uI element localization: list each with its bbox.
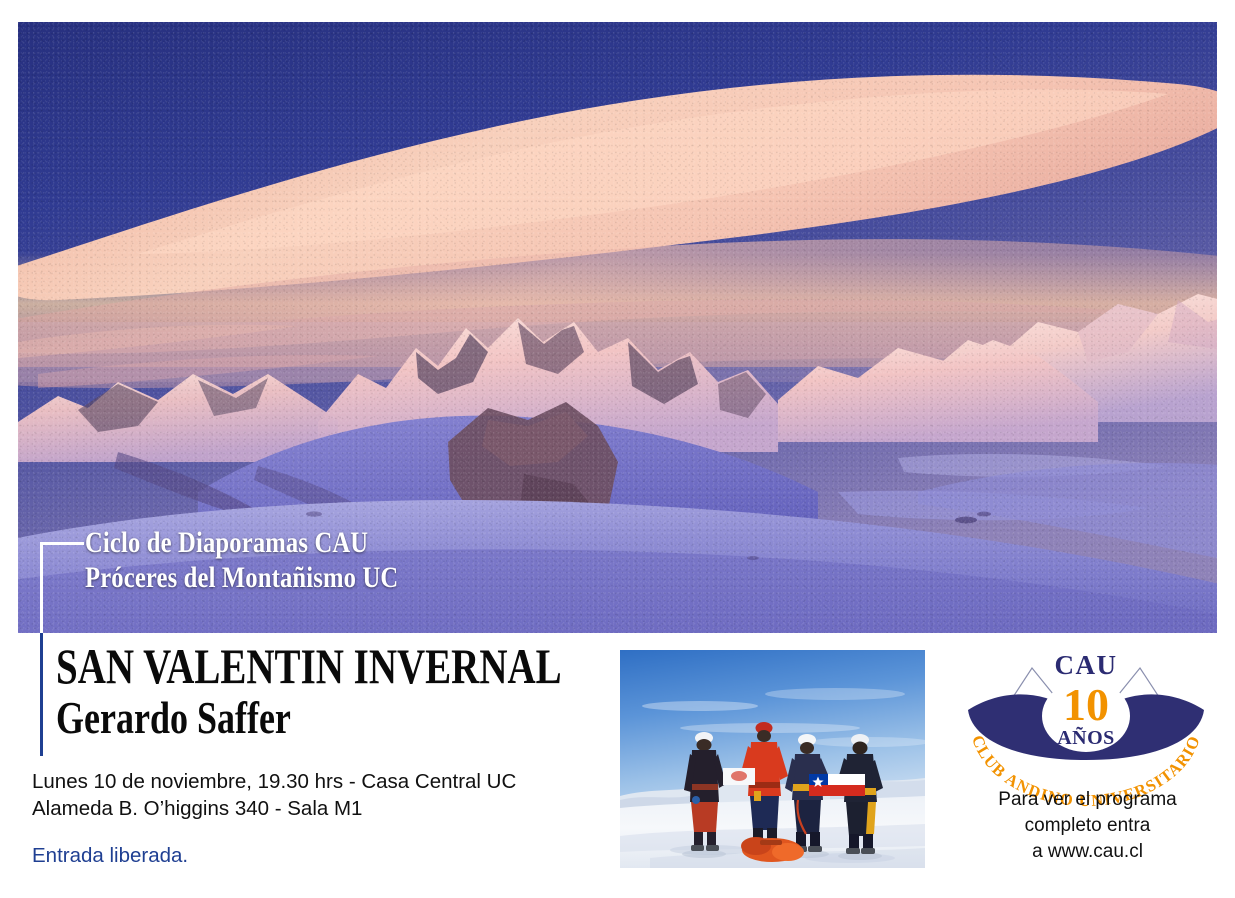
chilean-flag: [809, 774, 865, 796]
event-address: Alameda B. O’higgins 340 - Sala M1: [32, 795, 516, 822]
logo-years-number: 10: [1063, 679, 1109, 730]
bracket-vertical-rule-white: [40, 542, 43, 633]
admission-note: Entrada liberada.: [32, 844, 188, 868]
bracket-vertical-rule-blue: [40, 633, 43, 756]
poster-canvas: Ciclo de Diaporamas CAU Próceres del Mon…: [0, 0, 1235, 898]
small-white-flag: [723, 768, 755, 785]
bracket-horizontal-rule: [40, 542, 84, 545]
title-block: SAN VALENTIN INVERNAL Gerardo Saffer: [56, 640, 704, 742]
cau-logo: CAU 10 AÑOS CLUB ANDINO UNIVERSITARIO: [960, 648, 1212, 776]
cau-logo-artwork: CAU 10 AÑOS CLUB ANDINO UNIVERSITARIO: [960, 648, 1212, 776]
page-title: SAN VALENTIN INVERNAL: [56, 640, 562, 692]
website-note-line-2: completo entra: [940, 813, 1235, 839]
event-details: Lunes 10 de noviembre, 19.30 hrs - Casa …: [32, 768, 516, 822]
website-note-line-1: Para ver el programa: [940, 787, 1235, 813]
series-kicker: Ciclo de Diaporamas CAU Próceres del Mon…: [85, 525, 398, 595]
logo-years-word: AÑOS: [1057, 726, 1115, 749]
kicker-line-2: Próceres del Montañismo UC: [85, 560, 398, 595]
kicker-line-1: Ciclo de Diaporamas CAU: [85, 525, 398, 560]
website-note-line-3: a www.cau.cl: [940, 839, 1235, 865]
speaker-name: Gerardo Saffer: [56, 694, 575, 742]
logo-acronym: CAU: [1055, 650, 1118, 680]
event-datetime-venue: Lunes 10 de noviembre, 19.30 hrs - Casa …: [32, 768, 516, 795]
website-note: Para ver el programa completo entra a ww…: [940, 787, 1235, 865]
